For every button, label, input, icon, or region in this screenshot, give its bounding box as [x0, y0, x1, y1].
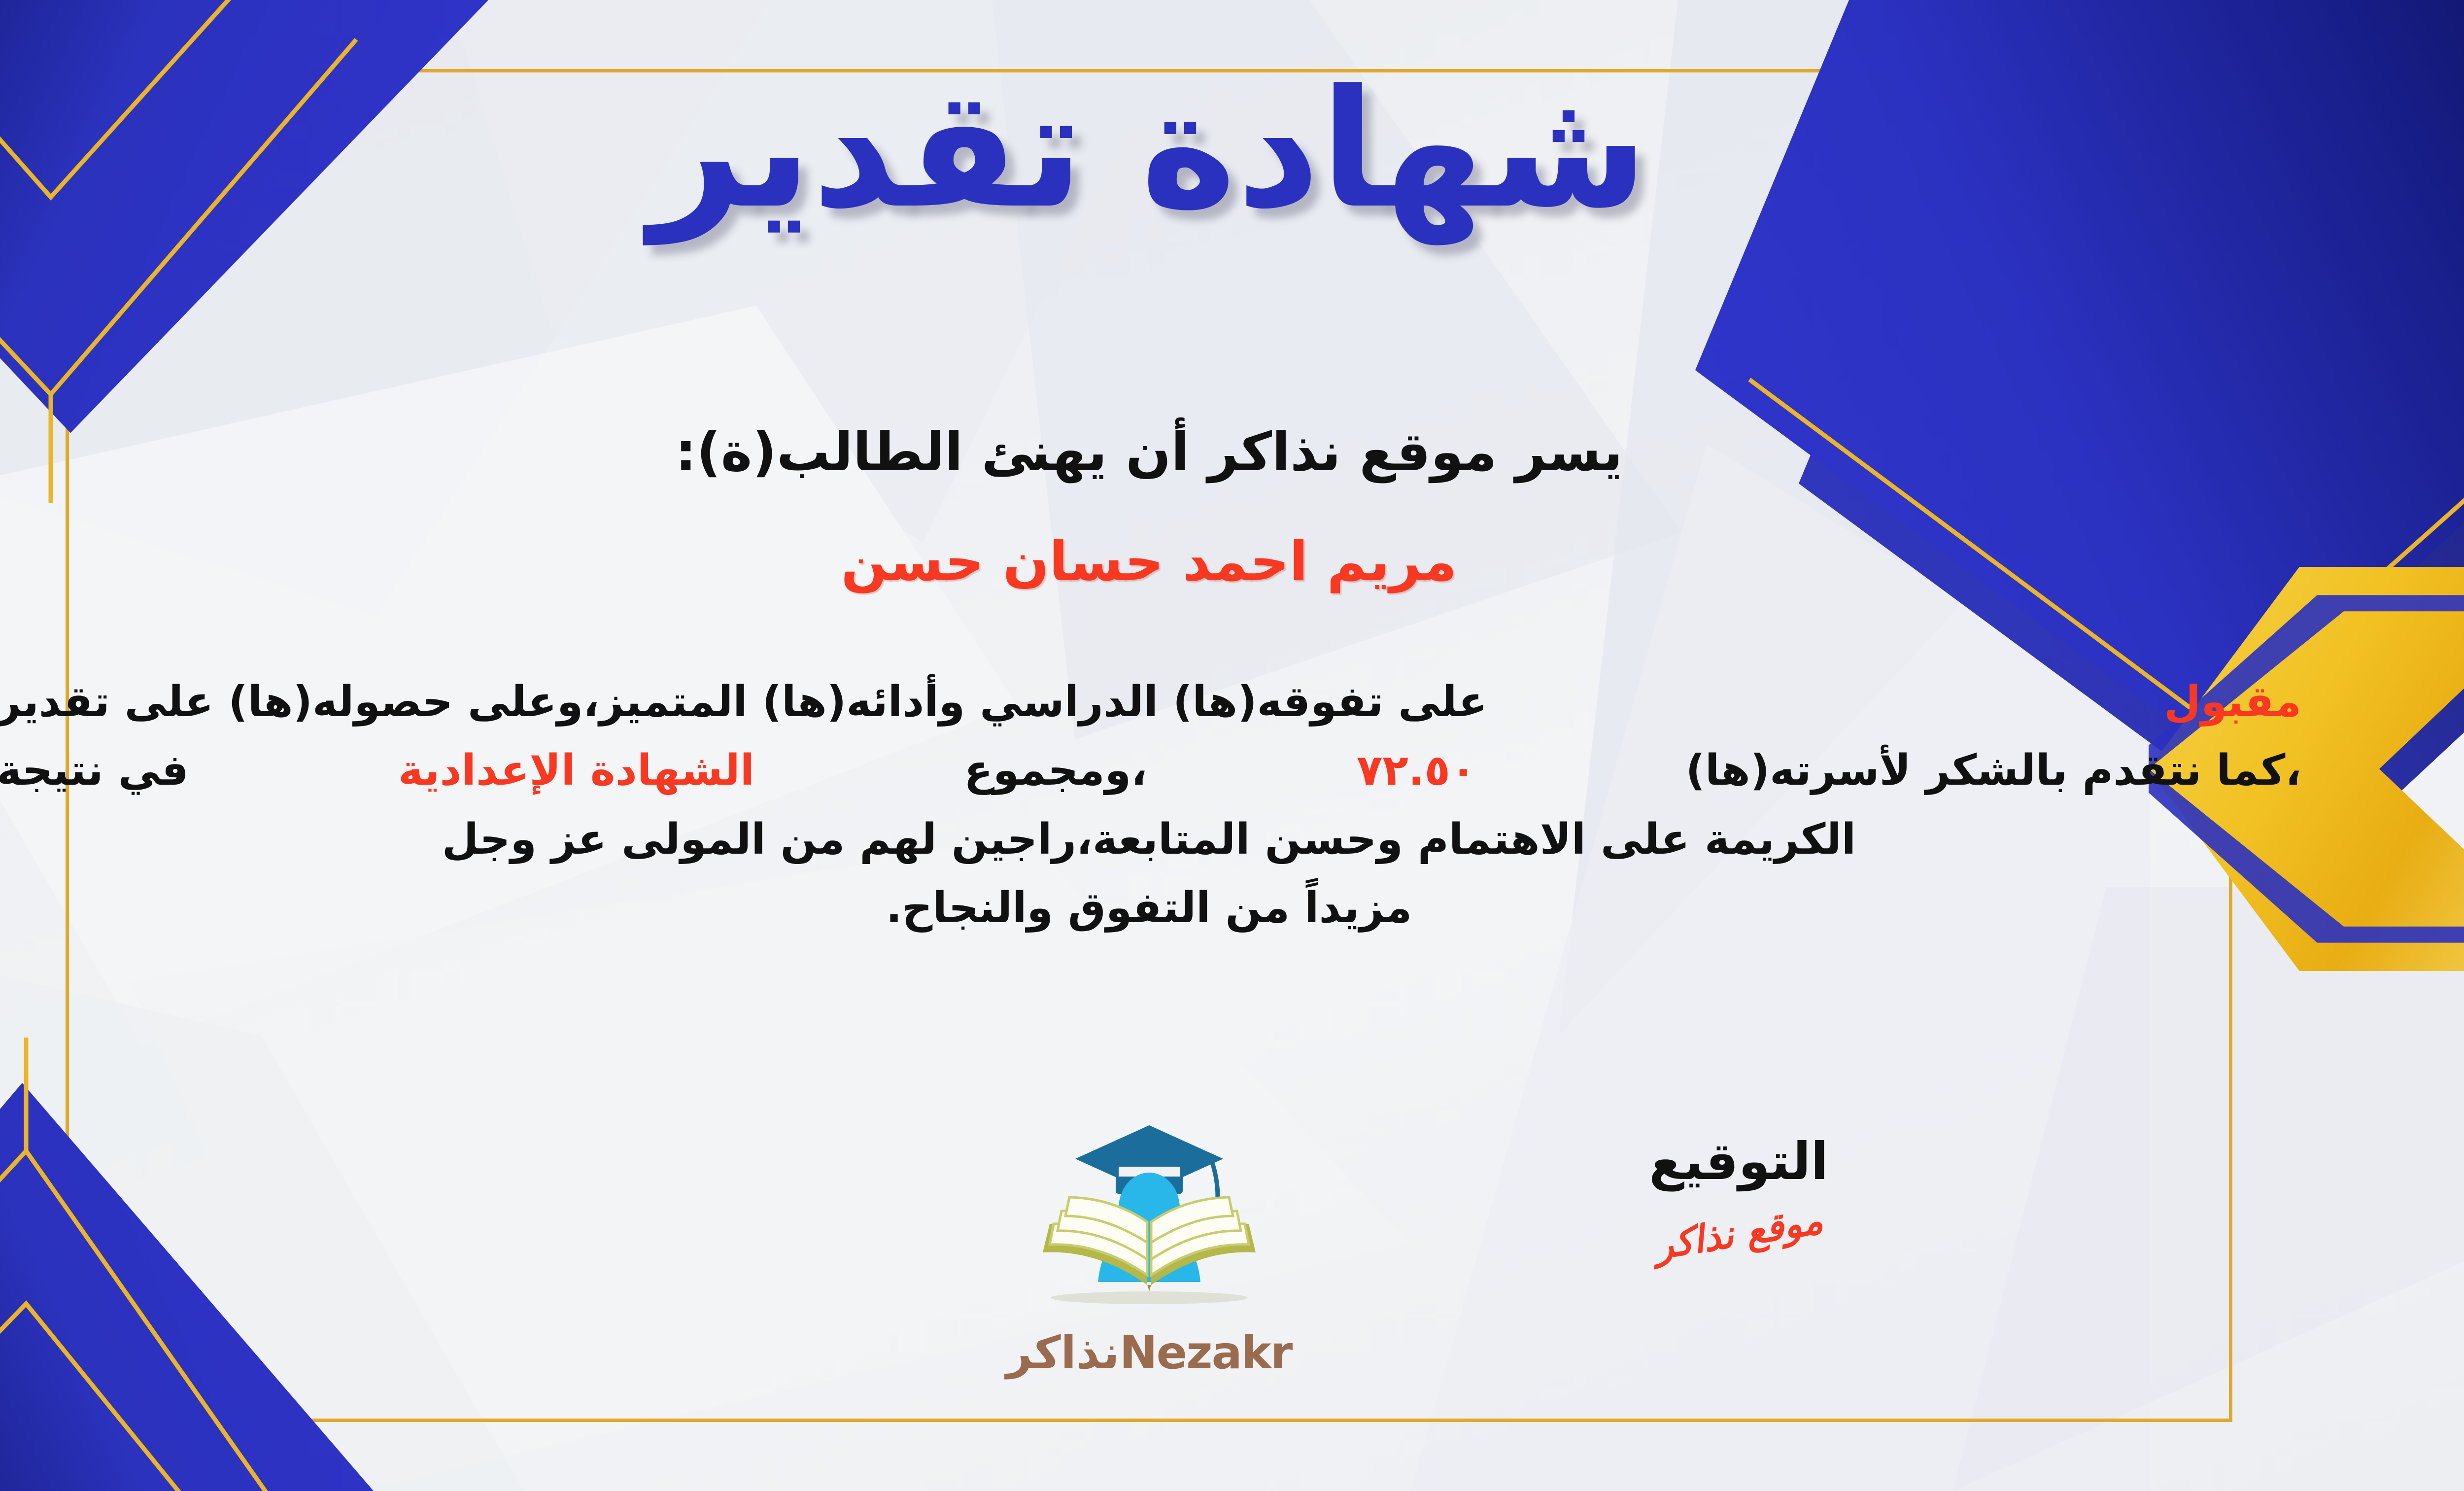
- student-name: مريم احمد حسان حسن: [0, 530, 2464, 593]
- certificate-title: شهادة تقدير: [0, 64, 2464, 235]
- body-line-2: ،كما نتقدم بالشكر لأسرته(ها) ٧٢.٥٠ ،ومجم…: [0, 736, 2301, 805]
- body-line-2-mid: ،ومجموع: [964, 736, 1147, 805]
- graduate-book-icon: [1011, 1111, 1287, 1323]
- body-line-4: مزيداً من التفوق والنجاح.: [0, 874, 2301, 942]
- body-line-1: مقبول على تفوقه(ها) الدراسي وأدائه(ها) ا…: [0, 668, 2301, 736]
- grade-value: مقبول: [2164, 668, 2301, 736]
- signature-block: التوقيع موقع نذاكر: [1649, 1131, 1828, 1255]
- brand-logo: Nezakrنذاكر: [972, 1111, 1327, 1379]
- certificate-content: شهادة تقدير يسر موقع نذاكر أن يهنئ الطال…: [0, 0, 2464, 1491]
- intro-line: يسر موقع نذاكر أن يهنئ الطالب(ة):: [0, 421, 2464, 483]
- total-score-value: ٧٢.٥٠: [1357, 736, 1476, 805]
- signature-mark: موقع نذاكر: [1646, 1197, 1830, 1269]
- brand-logo-text: Nezakrنذاكر: [972, 1326, 1327, 1379]
- body-line-2-tail: ،كما نتقدم بالشكر لأسرته(ها): [1686, 736, 2301, 805]
- certificate-canvas: شهادة تقدير يسر موقع نذاكر أن يهنئ الطال…: [0, 0, 2464, 1491]
- certificate-body: مقبول على تفوقه(ها) الدراسي وأدائه(ها) ا…: [0, 668, 2301, 942]
- body-line-3: الكريمة على الاهتمام وحسن المتابعة،راجين…: [0, 805, 2301, 874]
- body-line-1-text: على تفوقه(ها) الدراسي وأدائه(ها) المتميز…: [0, 668, 1487, 736]
- exam-name-value: الشهادة الإعدادية: [398, 736, 754, 805]
- signature-label: التوقيع: [1649, 1131, 1828, 1191]
- body-line-2-head: في نتيجة: [0, 736, 189, 805]
